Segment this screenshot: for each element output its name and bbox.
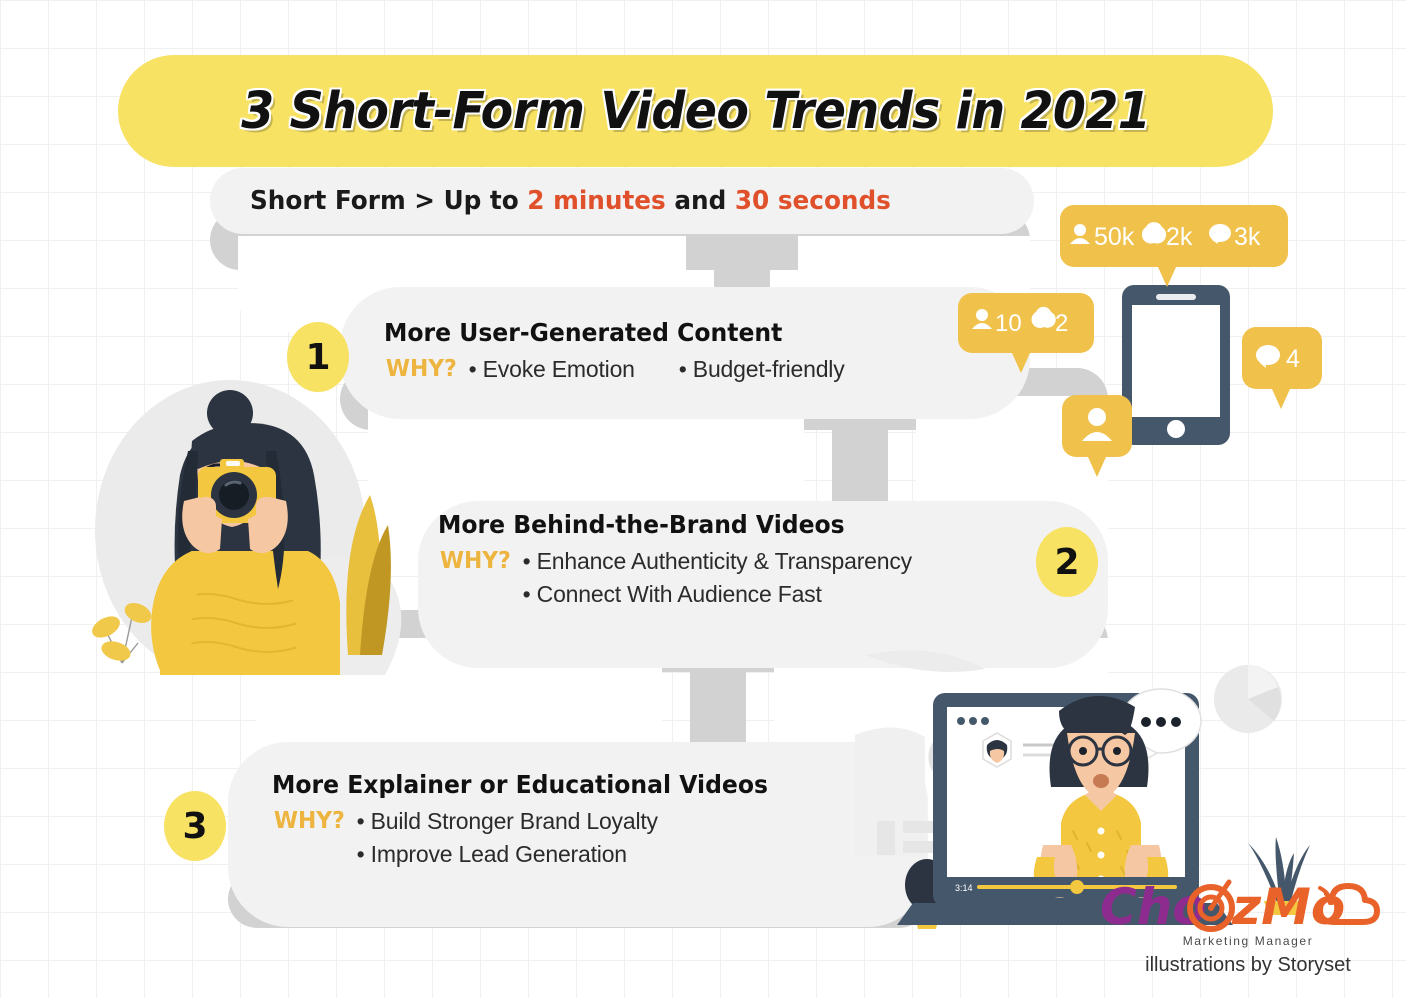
trend-2-bullet-1: • Enhance Authenticity & Transparency xyxy=(523,545,912,578)
svg-text:50k: 50k xyxy=(1094,223,1135,251)
trend-1-number-badge: 1 xyxy=(287,322,349,392)
trend-3-bullet-1: • Build Stronger Brand Loyalty xyxy=(357,805,658,838)
notification-bubble-avatar xyxy=(1062,395,1132,477)
logo-tagline: Marketing Manager xyxy=(1098,934,1398,948)
trend-3-why-label: WHY? xyxy=(274,805,345,838)
subtitle-prefix: Short Form > Up to xyxy=(250,186,527,216)
notification-bubble-left: 10 2 xyxy=(958,293,1094,373)
trend-3-content: More Explainer or Educational Videos WHY… xyxy=(272,770,800,872)
trend-2-bullets: • Enhance Authenticity & Transparency • … xyxy=(523,545,912,612)
illustration-credit: illustrations by Storyset xyxy=(1098,954,1398,977)
phone-notifications-illustration: 50k 2k 3k 10 2 4 xyxy=(950,195,1330,485)
trend-3-bullet-2: • Improve Lead Generation xyxy=(357,838,658,871)
trend-3-why-row: WHY? • Build Stronger Brand Loyalty • Im… xyxy=(272,805,800,872)
video-time: 3:14 xyxy=(955,883,973,893)
trend-1-why-label: WHY? xyxy=(386,353,457,386)
subtitle-highlight-seconds: 30 seconds xyxy=(735,186,891,216)
subtitle-card: Short Form > Up to 2 minutes and 30 seco… xyxy=(210,168,1034,234)
page-title: 3 Short-Form Video Trends in 2021 xyxy=(241,82,1150,141)
svg-text:4: 4 xyxy=(1286,345,1300,373)
infographic-canvas: 3 Short-Form Video Trends in 2021 Short … xyxy=(0,0,1406,998)
trend-2-title: More Behind-the-Brand Videos xyxy=(438,510,884,539)
page-title-banner: 3 Short-Form Video Trends in 2021 xyxy=(118,55,1273,167)
phone-screen xyxy=(1132,305,1220,417)
trend-2-number-badge: 2 xyxy=(1036,527,1098,597)
trend-2-content: More Behind-the-Brand Videos WHY? • Enha… xyxy=(438,510,912,612)
svg-text:3k: 3k xyxy=(1234,223,1261,251)
trend-2-bullet-2: • Connect With Audience Fast xyxy=(523,578,912,611)
svg-text:2: 2 xyxy=(1055,310,1068,337)
trend-1-content: More User-Generated Content WHY? • Evoke… xyxy=(384,318,845,386)
trend-1-bullets: • Evoke Emotion • Budget-friendly xyxy=(469,353,845,386)
svg-text:2k: 2k xyxy=(1166,223,1193,251)
notification-bubble-top: 50k 2k 3k xyxy=(1060,205,1288,287)
trend-2-why-label: WHY? xyxy=(440,545,511,578)
trend-1-bullet-2: • Budget-friendly xyxy=(679,353,845,386)
subtitle-highlight-minutes: 2 minutes xyxy=(527,186,665,216)
choozmo-logo: Cho zMo xyxy=(1098,876,1388,938)
trend-1-bullet-1: • Evoke Emotion xyxy=(469,353,635,386)
svg-text:10: 10 xyxy=(995,310,1022,337)
subtitle-middle: and xyxy=(666,186,735,216)
trend-1-why-row: WHY? • Evoke Emotion • Budget-friendly xyxy=(384,353,845,386)
branding-block: Cho zMo Marketing Manager illustrations … xyxy=(1098,876,1398,977)
trend-3-title: More Explainer or Educational Videos xyxy=(272,770,768,799)
trend-2-why-row: WHY? • Enhance Authenticity & Transparen… xyxy=(438,545,912,612)
trend-3-number-badge: 3 xyxy=(164,791,226,861)
notification-bubble-right: 4 xyxy=(1242,327,1322,409)
svg-text:zMo: zMo xyxy=(1231,878,1345,936)
trend-3-bullets: • Build Stronger Brand Loyalty • Improve… xyxy=(357,805,658,872)
trend-1-title: More User-Generated Content xyxy=(384,318,817,347)
subtitle-text: Short Form > Up to 2 minutes and 30 seco… xyxy=(250,186,891,216)
